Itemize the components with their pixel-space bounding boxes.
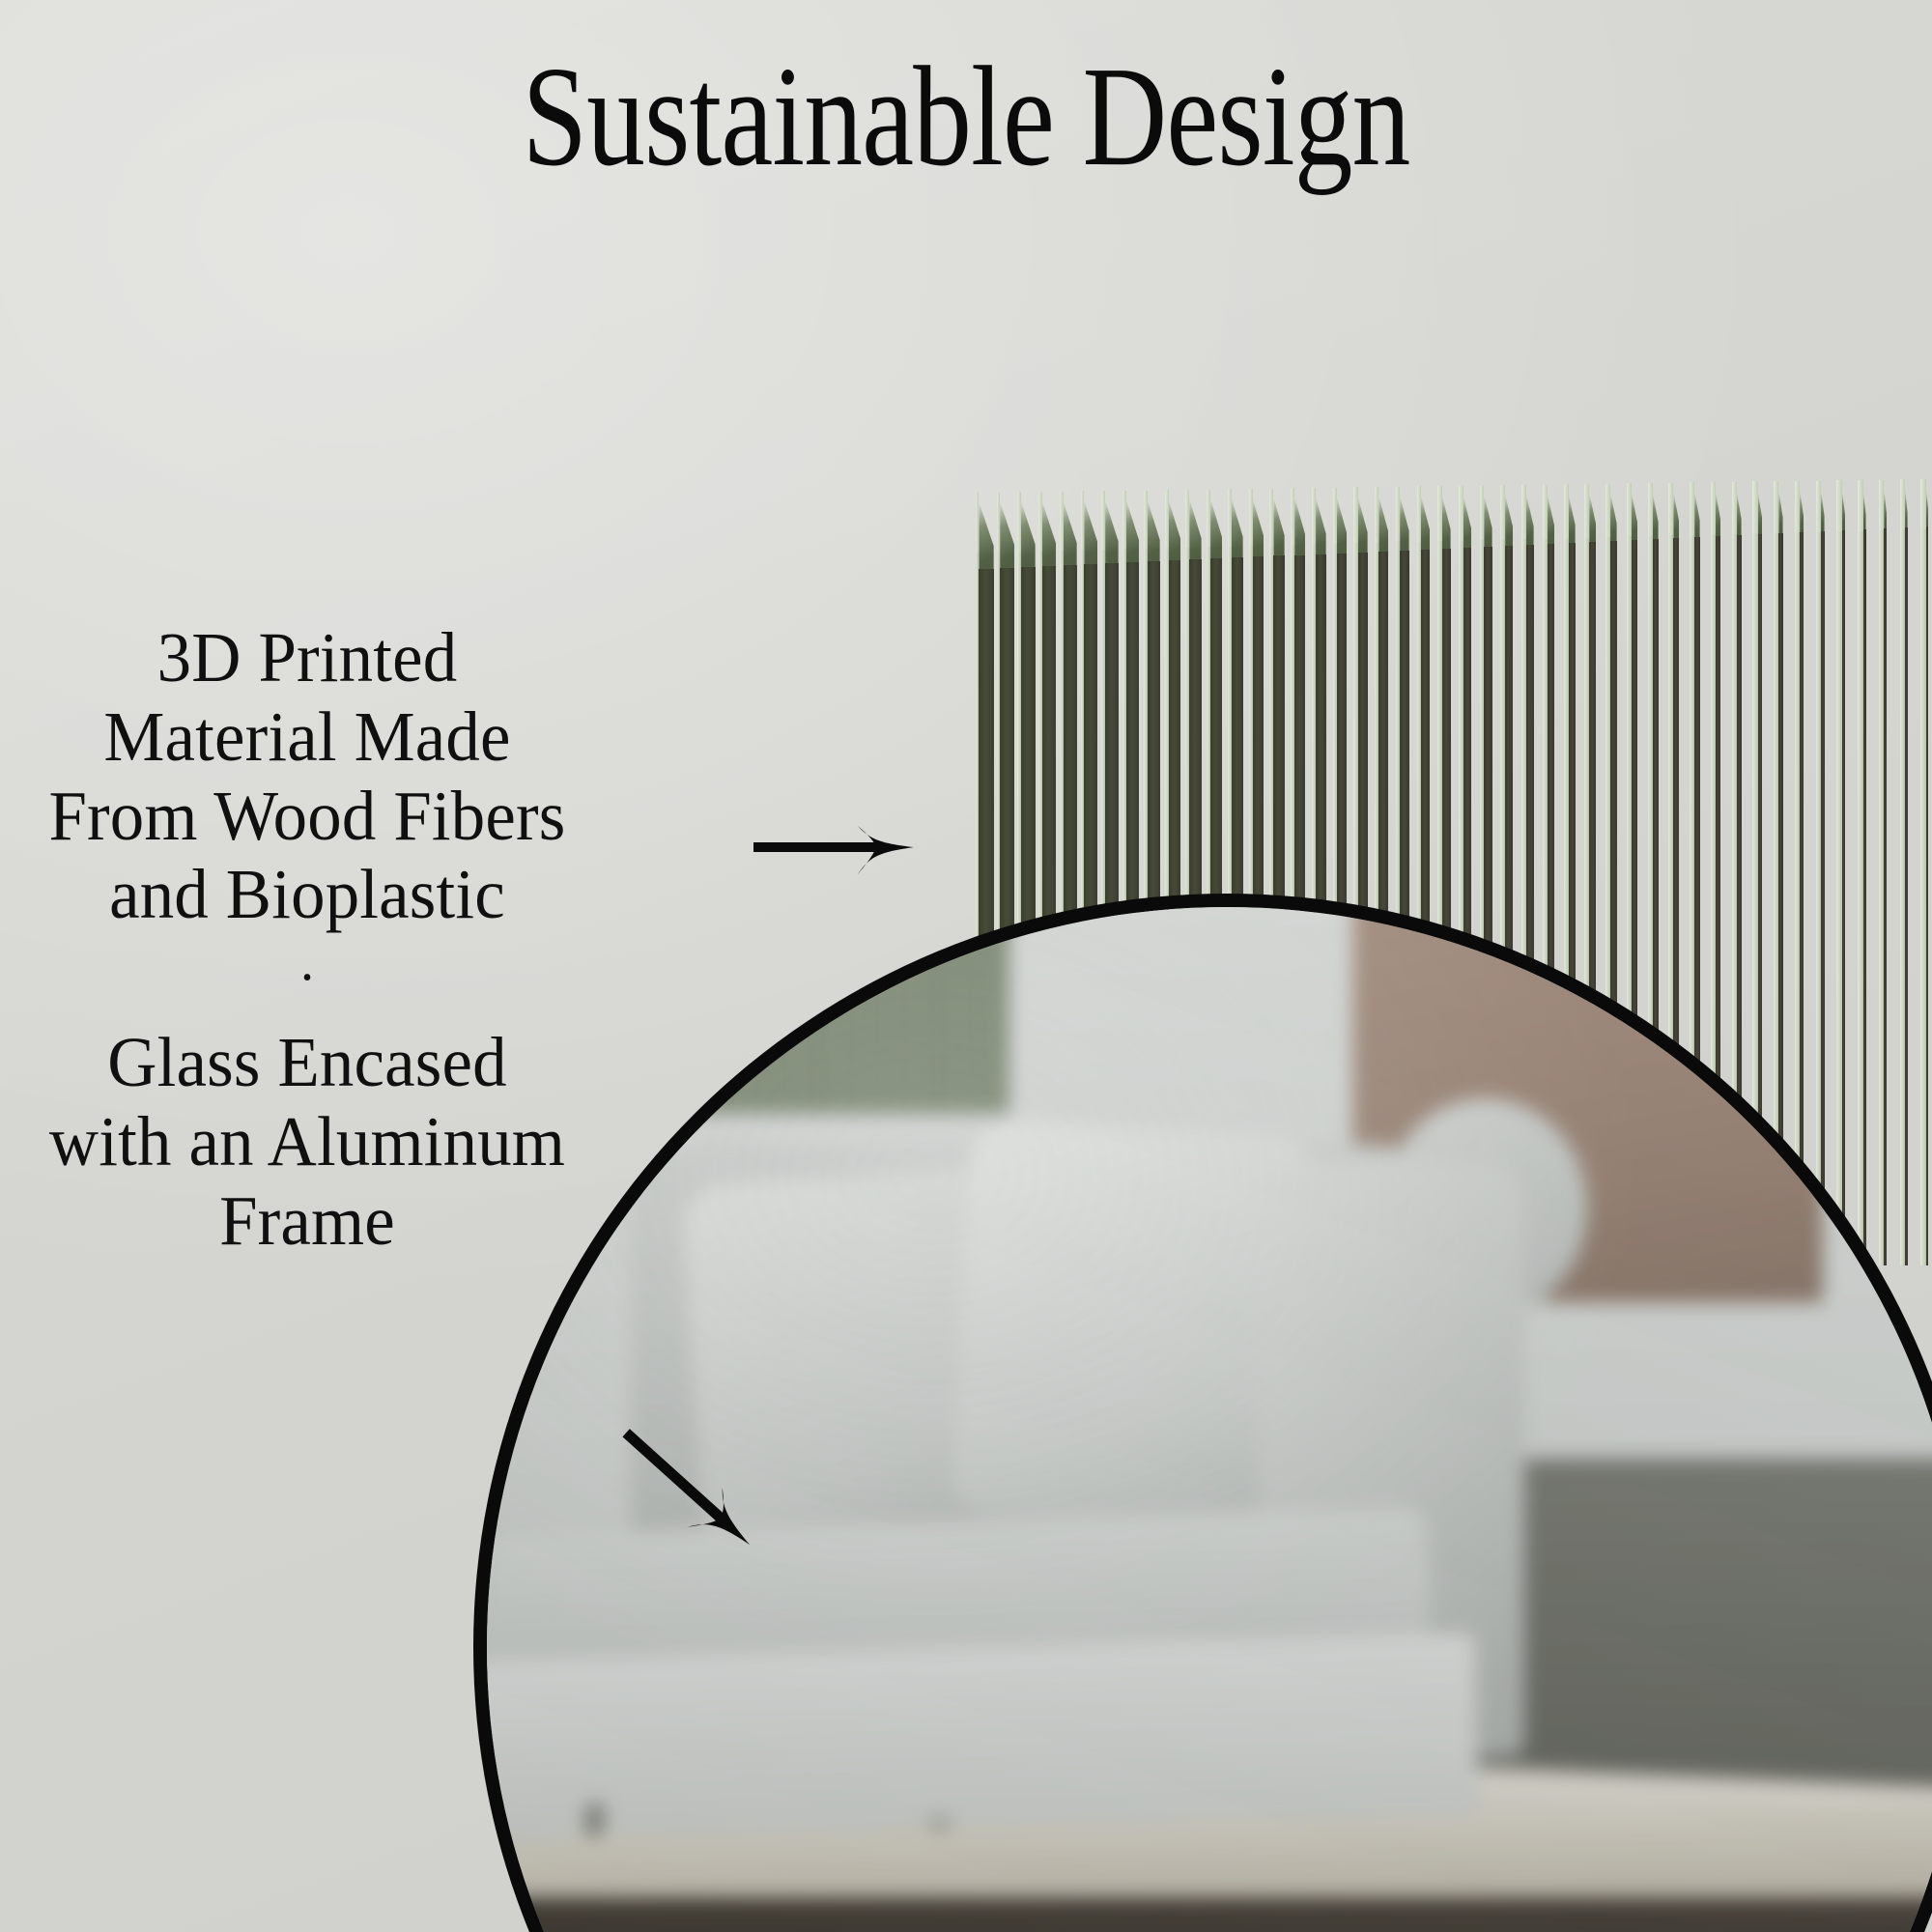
arrow-right-icon	[753, 807, 947, 894]
round-mirror	[473, 894, 1932, 1932]
poster-canvas: Sustainable Design 3D Printed Material M…	[0, 0, 1932, 1932]
copy-separator: ·	[44, 950, 569, 1006]
feature-one-text: 3D Printed Material Made From Wood Fiber…	[44, 618, 569, 934]
mirror-glass	[487, 907, 1932, 1932]
reflected-fins	[694, 907, 1008, 1114]
reflected-floor-dark	[487, 1898, 1932, 1932]
feature-two-text: Glass Encased with an Aluminum Frame	[44, 1023, 569, 1260]
arrow-down-right-icon	[618, 1430, 811, 1613]
feature-copy: 3D Printed Material Made From Wood Fiber…	[44, 618, 569, 1260]
page-title: Sustainable Design	[174, 44, 1758, 190]
mirror-reflection	[487, 907, 1932, 1932]
